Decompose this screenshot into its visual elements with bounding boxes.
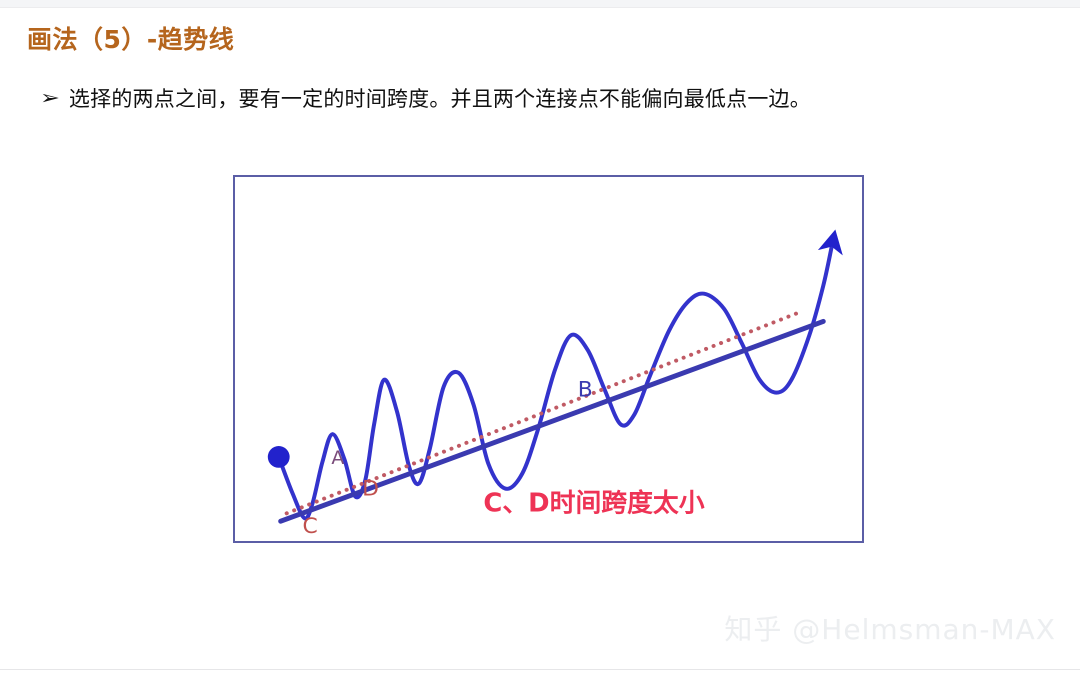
slide-canvas: 画法（5）-趋势线 ➢ 选择的两点之间，要有一定的时间跨度。并且两个连接点不能偏… (0, 0, 1080, 676)
start-dot-marker (268, 446, 290, 468)
bottom-edge-strip (0, 669, 1080, 676)
bullet-point: ➢ 选择的两点之间，要有一定的时间跨度。并且两个连接点不能偏向最低点一边。 (40, 84, 811, 114)
warning-note: C、D时间跨度太小 (483, 487, 704, 518)
top-edge-strip (0, 0, 1080, 8)
point-label-d: D (362, 477, 379, 502)
trendline-chart: ABCDC、D时间跨度太小 (233, 175, 864, 543)
chart-svg: ABCDC、D时间跨度太小 (235, 177, 862, 541)
bullet-point-text: 选择的两点之间，要有一定的时间跨度。并且两个连接点不能偏向最低点一边。 (69, 84, 811, 114)
point-label-c: C (303, 514, 318, 539)
point-label-b: B (578, 378, 593, 403)
point-label-a: A (331, 448, 344, 469)
arrowhead-bullet-icon: ➢ (40, 84, 60, 114)
watermark: 知乎 @Helmsman-MAX (724, 608, 1056, 648)
page-title: 画法（5）-趋势线 (27, 20, 234, 56)
annotation-layer: ABCDC、D时间跨度太小 (303, 378, 705, 539)
